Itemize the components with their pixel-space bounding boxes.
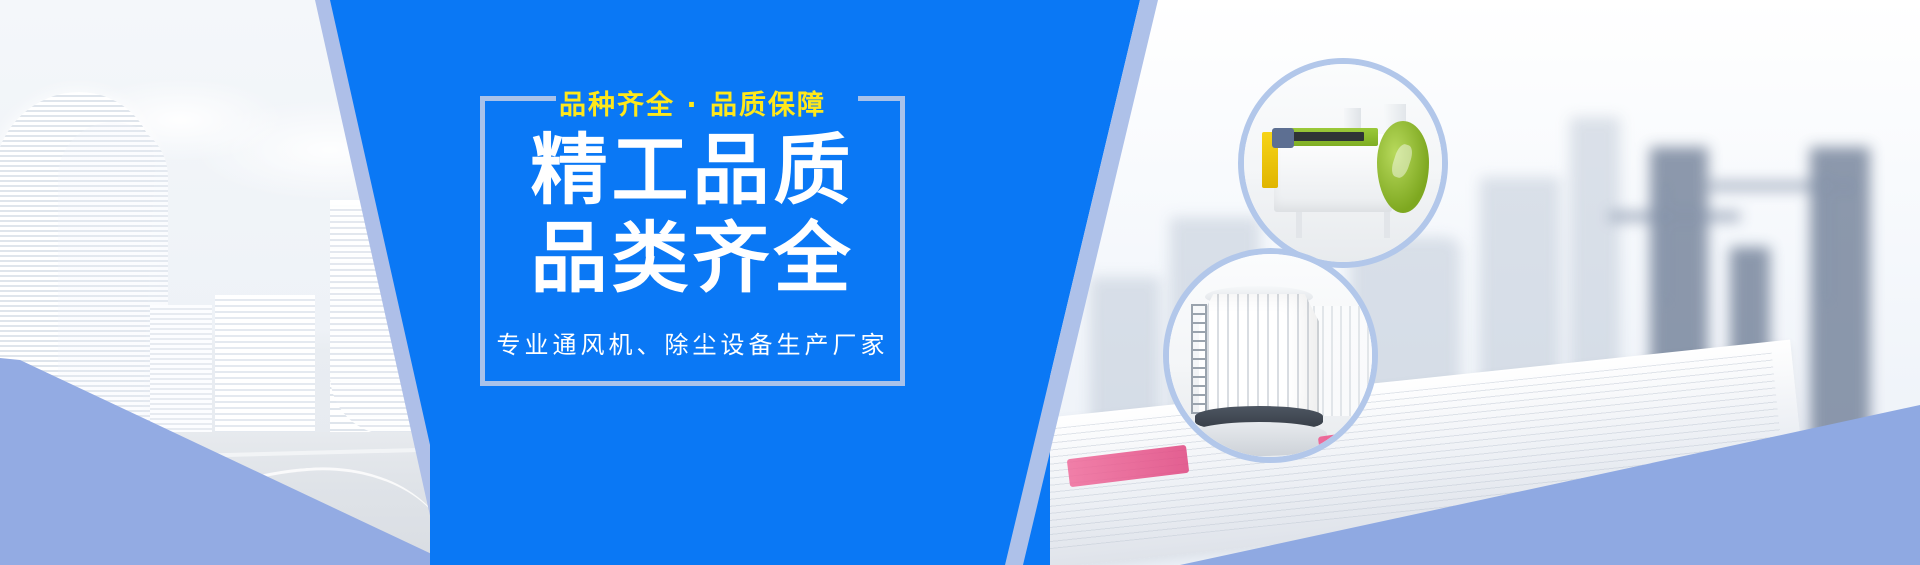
crane-arm xyxy=(1710,182,1860,190)
headline: 精工品质 品类齐全 xyxy=(480,128,905,304)
mid-rise-building xyxy=(215,295,315,435)
product-circle-machine xyxy=(1238,58,1448,268)
machine-inspection-window xyxy=(1286,132,1364,141)
machine-photo xyxy=(1244,64,1442,262)
crane-mast xyxy=(1820,172,1827,302)
cooling-tower-shell xyxy=(1199,294,1319,419)
machine-motor xyxy=(1272,128,1294,148)
product-circle-cooling-tower xyxy=(1163,248,1378,463)
cooling-tower-base-basin xyxy=(1191,422,1327,456)
crane-arm xyxy=(1610,212,1740,221)
mid-rise-building-secondary xyxy=(150,305,212,435)
tagline-text: 专业通风机、除尘设备生产厂家 xyxy=(480,325,905,360)
promotional-banner: 品种齐全 · 品质保障 精工品质 品类齐全 专业通风机、除尘设备生产厂家 xyxy=(0,0,1920,565)
blurred-construction-tower xyxy=(1810,147,1870,447)
headline-line-1: 精工品质 xyxy=(480,128,905,216)
crane-mast xyxy=(1658,182,1665,302)
eyebrow-text: 品种齐全 · 品质保障 xyxy=(480,83,905,122)
headline-line-2: 品类齐全 xyxy=(480,216,905,304)
cooling-tower-photo xyxy=(1169,254,1372,457)
cooling-tower-ladder xyxy=(1191,304,1207,414)
